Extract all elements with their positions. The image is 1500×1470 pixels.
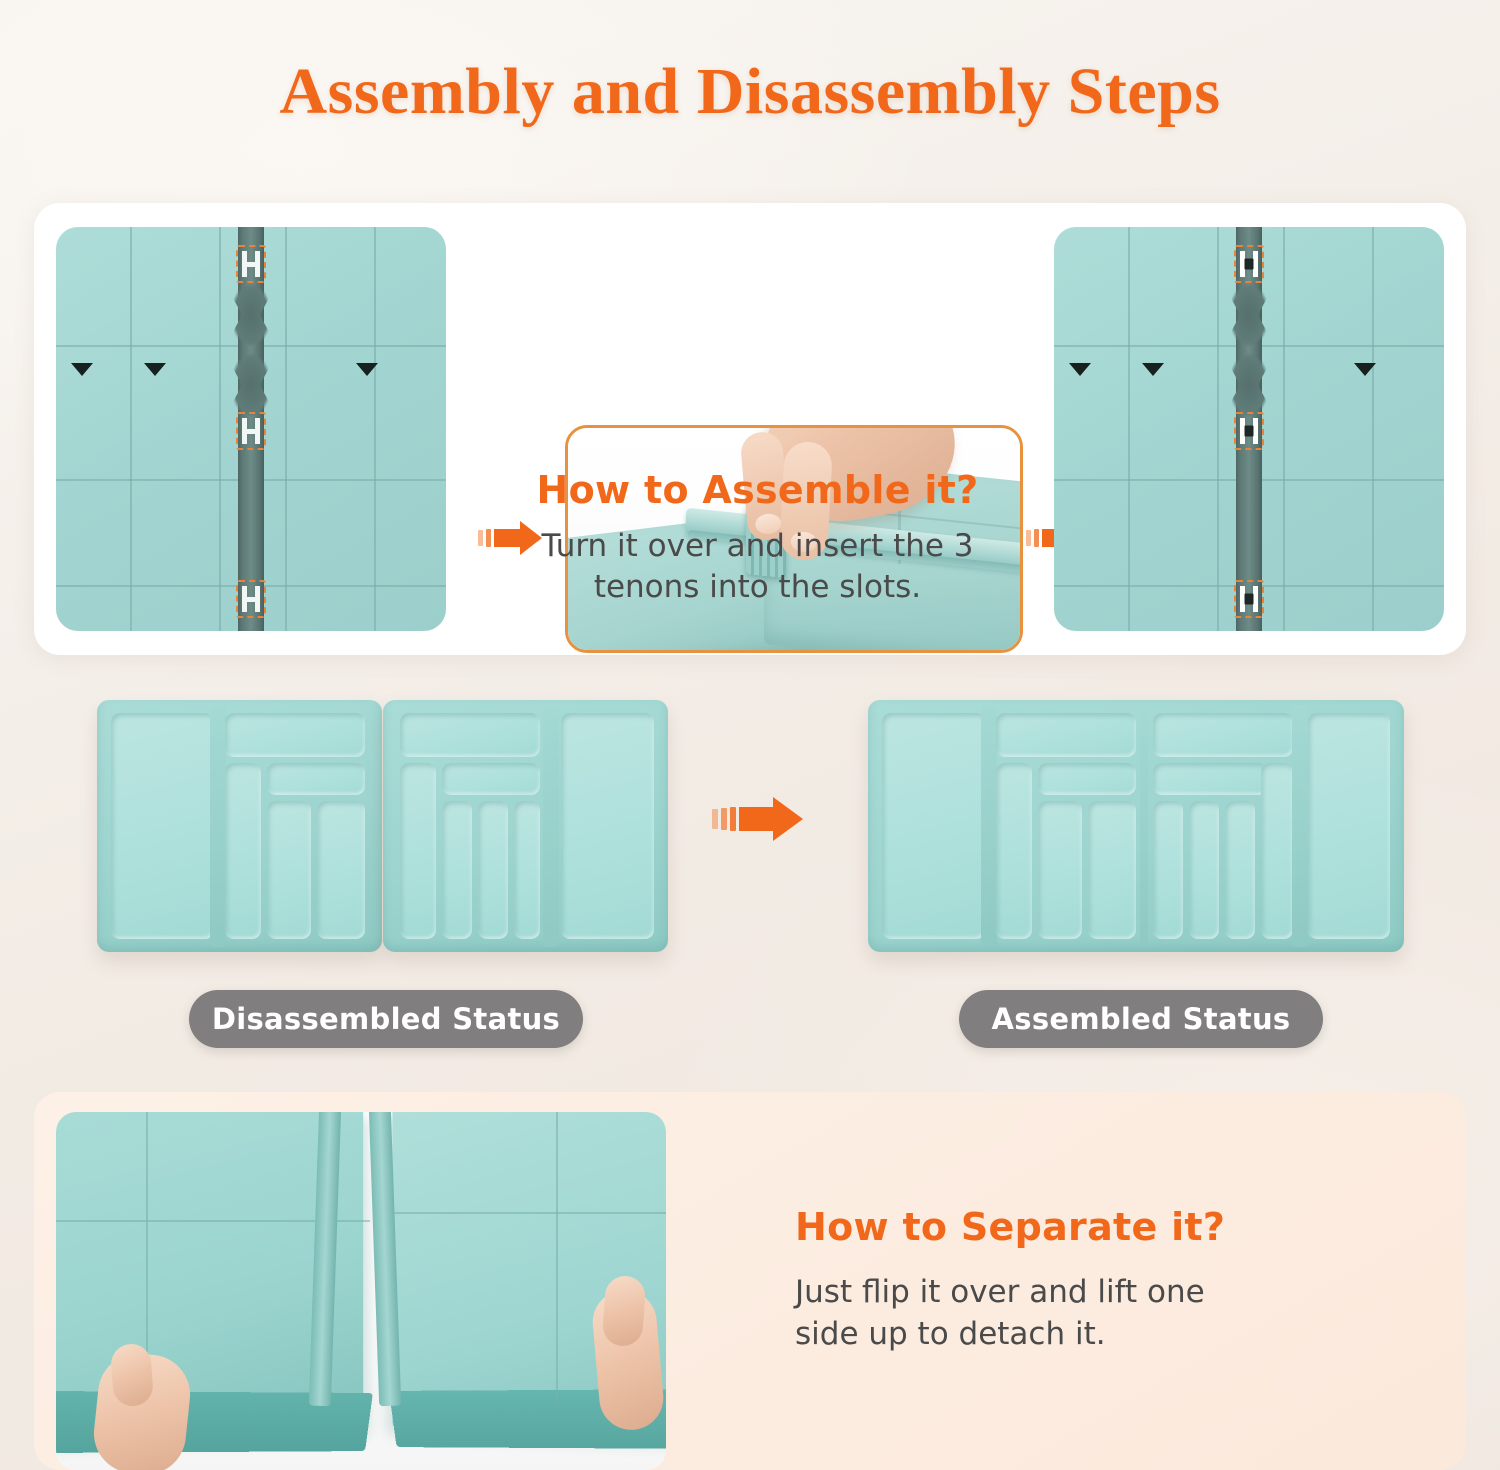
separate-instructions: How to Separate it? Just flip it over an…	[795, 1205, 1355, 1355]
compartment	[514, 801, 540, 939]
organizer-tray-b	[383, 700, 668, 952]
status-badge-disassembled: Disassembled Status	[189, 990, 583, 1048]
compartment	[400, 763, 436, 939]
thumb-left	[110, 1343, 154, 1408]
compartment	[1038, 801, 1082, 939]
separate-instruction-line-2: side up to detach it.	[795, 1313, 1355, 1355]
compartment	[561, 713, 654, 939]
assemble-instruction-line-1: Turn it over and insert the 3	[500, 526, 1015, 567]
tray-underside-unlocked-diagram	[56, 227, 446, 631]
compartment	[996, 713, 1136, 757]
compartment	[996, 763, 1032, 939]
grid-line	[386, 1212, 666, 1214]
compartment	[882, 713, 985, 939]
triangle-marker-icon	[71, 363, 93, 376]
grid-line	[1128, 227, 1130, 631]
compartment	[317, 801, 365, 939]
tenon-locked-icon	[1234, 580, 1264, 618]
compartment	[478, 801, 508, 939]
compartment	[1308, 713, 1390, 939]
assemble-instruction-line-2: tenons into the slots.	[500, 567, 1015, 608]
grid-line	[374, 227, 376, 631]
compartment	[267, 801, 311, 939]
separate-instruction-line-1: Just flip it over and lift one	[795, 1271, 1355, 1313]
separate-heading: How to Separate it?	[795, 1205, 1355, 1249]
tenon-slot-icon	[236, 412, 266, 450]
compartment	[1153, 763, 1268, 795]
tenon-locked-icon	[1234, 412, 1264, 450]
joint-seam	[1140, 705, 1148, 947]
organizer-tray-assembled	[868, 700, 1404, 952]
tenon-slot-icon	[236, 245, 266, 283]
grid-line	[556, 1112, 558, 1402]
compartment	[1038, 763, 1136, 795]
separate-photo	[56, 1112, 666, 1470]
grid-line	[219, 227, 221, 631]
compartment	[267, 763, 365, 795]
grid-line	[1217, 227, 1219, 631]
compartment	[442, 801, 472, 939]
compartment	[1225, 801, 1255, 939]
compartment	[111, 713, 214, 939]
compartment	[442, 763, 540, 795]
grid-line	[1283, 227, 1285, 631]
connector-lug	[543, 705, 559, 947]
compartment	[1189, 801, 1219, 939]
grid-line	[130, 227, 132, 631]
connector-lug	[981, 705, 997, 947]
triangle-marker-icon	[144, 363, 166, 376]
tenon-slot-icon	[236, 580, 266, 618]
grid-line	[1372, 227, 1374, 631]
tenon-locked-icon	[1234, 245, 1264, 283]
thumb-right	[602, 1275, 647, 1348]
compartment	[1261, 763, 1293, 939]
connector-lug	[1292, 705, 1308, 947]
compartment	[400, 713, 540, 757]
arrow-right-icon	[712, 797, 803, 841]
organizer-tray-a	[97, 700, 382, 952]
page-title: Assembly and Disassembly Steps	[0, 54, 1500, 130]
status-badge-assembled: Assembled Status	[959, 990, 1323, 1048]
triangle-marker-icon	[356, 363, 378, 376]
assemble-instructions: How to Assemble it? Turn it over and ins…	[500, 468, 1015, 608]
compartment	[1153, 801, 1183, 939]
compartment	[1153, 713, 1293, 757]
grid-line	[285, 227, 287, 631]
compartment	[225, 713, 365, 757]
assemble-heading: How to Assemble it?	[500, 468, 1015, 512]
compartment	[1088, 801, 1136, 939]
connector-lug	[210, 705, 226, 947]
triangle-marker-icon	[1354, 363, 1376, 376]
triangle-marker-icon	[1142, 363, 1164, 376]
triangle-marker-icon	[1069, 363, 1091, 376]
compartment	[225, 763, 261, 939]
tray-underside-locked-diagram	[1054, 227, 1444, 631]
